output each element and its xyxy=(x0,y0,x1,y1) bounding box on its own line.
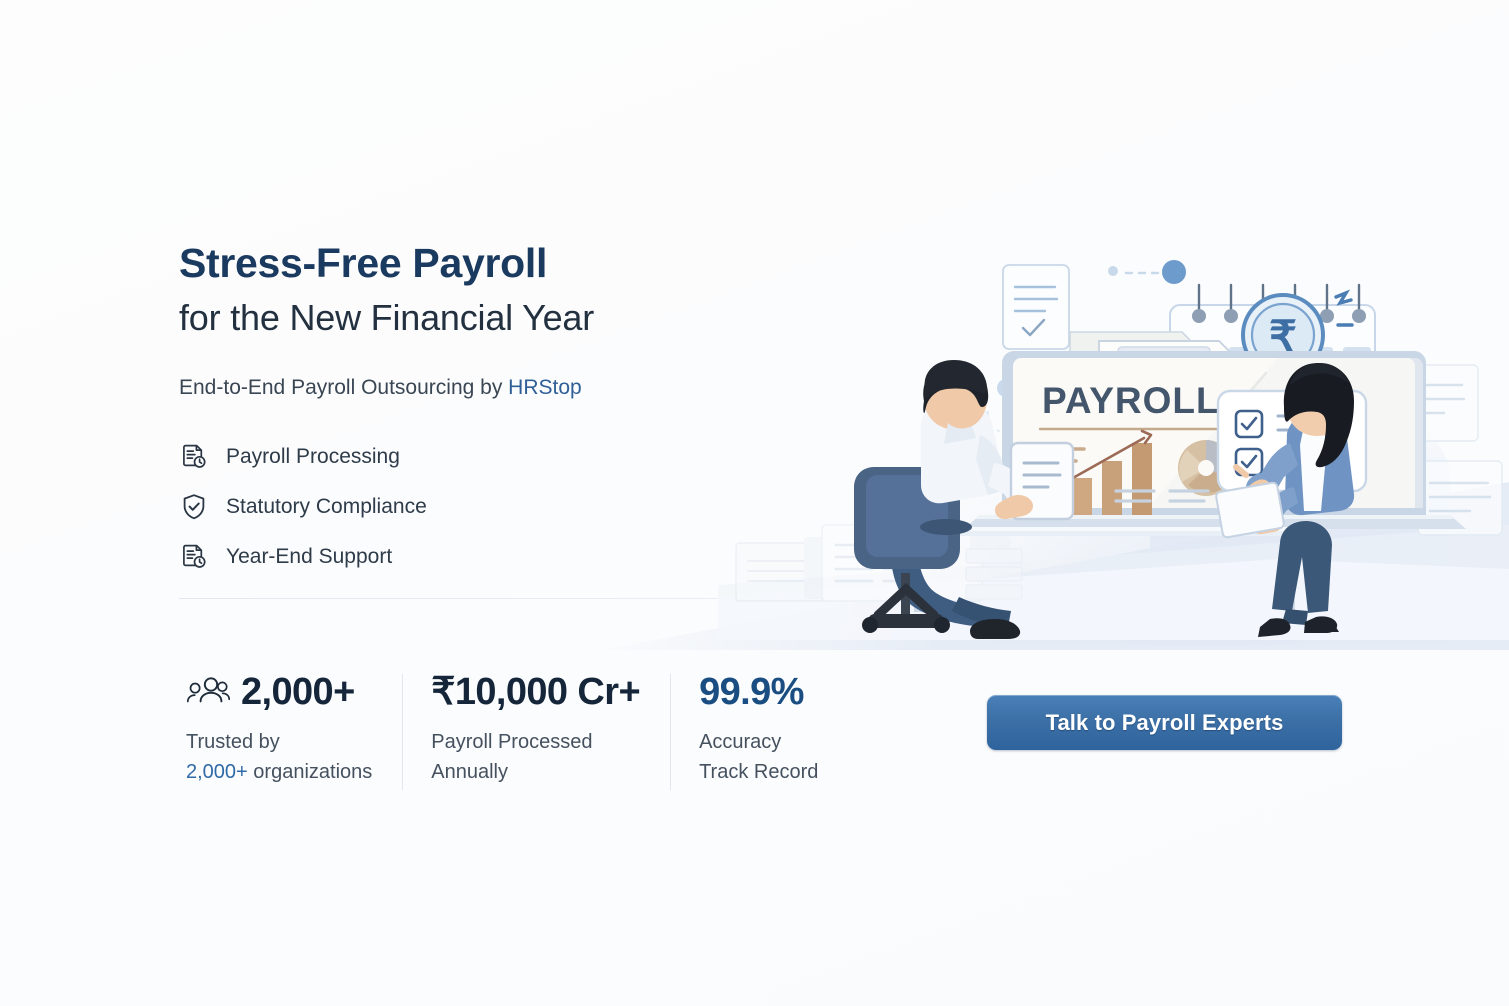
stat-caption-line-2: 2,000+ organizations xyxy=(186,757,372,787)
stat-caption-line-1: Trusted by xyxy=(186,727,372,757)
stat-header: 99.9% xyxy=(699,668,818,716)
stat-caption-line-2: Track Record xyxy=(699,757,818,787)
users-icon xyxy=(186,675,230,709)
stat-value: ₹10,000 Cr+ xyxy=(431,673,640,711)
hero-copy: Stress-Free Payroll for the New Financia… xyxy=(179,243,799,582)
stat-caption-line-1: Accuracy xyxy=(699,727,818,757)
stat-caption: Trusted by 2,000+ organizations xyxy=(186,727,372,788)
feature-label: Year-End Support xyxy=(226,545,392,569)
stat-payroll-processed: ₹10,000 Cr+ Payroll Processed Annually xyxy=(402,668,670,788)
document-clock-icon xyxy=(179,442,209,472)
feature-item-payroll-processing: Payroll Processing xyxy=(179,432,799,482)
stat-value: 99.9% xyxy=(699,673,804,711)
stat-header: 2,000+ xyxy=(186,668,372,716)
shield-check-icon xyxy=(179,492,209,522)
document-clock-icon xyxy=(179,542,209,572)
page-title: Stress-Free Payroll xyxy=(179,243,799,284)
stat-caption: Accuracy Track Record xyxy=(699,727,818,788)
feature-list: Payroll Processing Statutory Compliance xyxy=(179,432,799,582)
stats-row: 2,000+ Trusted by 2,000+ organizations ₹… xyxy=(186,668,848,788)
stat-caption-line-2: Annually xyxy=(431,757,640,787)
talk-to-payroll-experts-button[interactable]: Talk to Payroll Experts xyxy=(987,695,1342,750)
payroll-team-illustration: ₹ PAYROLL xyxy=(718,225,1509,640)
stat-value: 2,000+ xyxy=(241,673,355,711)
screen-title-text: PAYROLL xyxy=(1042,380,1220,421)
stat-trusted-organizations: 2,000+ Trusted by 2,000+ organizations xyxy=(186,668,402,788)
stat-caption: Payroll Processed Annually xyxy=(431,727,640,788)
hero-banner: Stress-Free Payroll for the New Financia… xyxy=(0,0,1509,1006)
stat-header: ₹10,000 Cr+ xyxy=(431,668,640,716)
feature-item-year-end-support: Year-End Support xyxy=(179,532,799,582)
feature-label: Statutory Compliance xyxy=(226,495,427,519)
hero-subhead: End-to-End Payroll Outsourcing by HRStop xyxy=(179,376,799,400)
stat-caption-highlight: 2,000+ xyxy=(186,761,248,783)
stat-caption-rest: organizations xyxy=(248,761,373,783)
feature-item-statutory-compliance: Statutory Compliance xyxy=(179,482,799,532)
page-subtitle: for the New Financial Year xyxy=(179,300,799,336)
feature-label: Payroll Processing xyxy=(226,445,400,469)
stat-accuracy: 99.9% Accuracy Track Record xyxy=(670,668,848,788)
stat-caption-line-1: Payroll Processed xyxy=(431,727,640,757)
hero-subhead-prefix: End-to-End Payroll Outsourcing by xyxy=(179,376,508,399)
brand-name-hrstop: HRStop xyxy=(508,376,582,399)
